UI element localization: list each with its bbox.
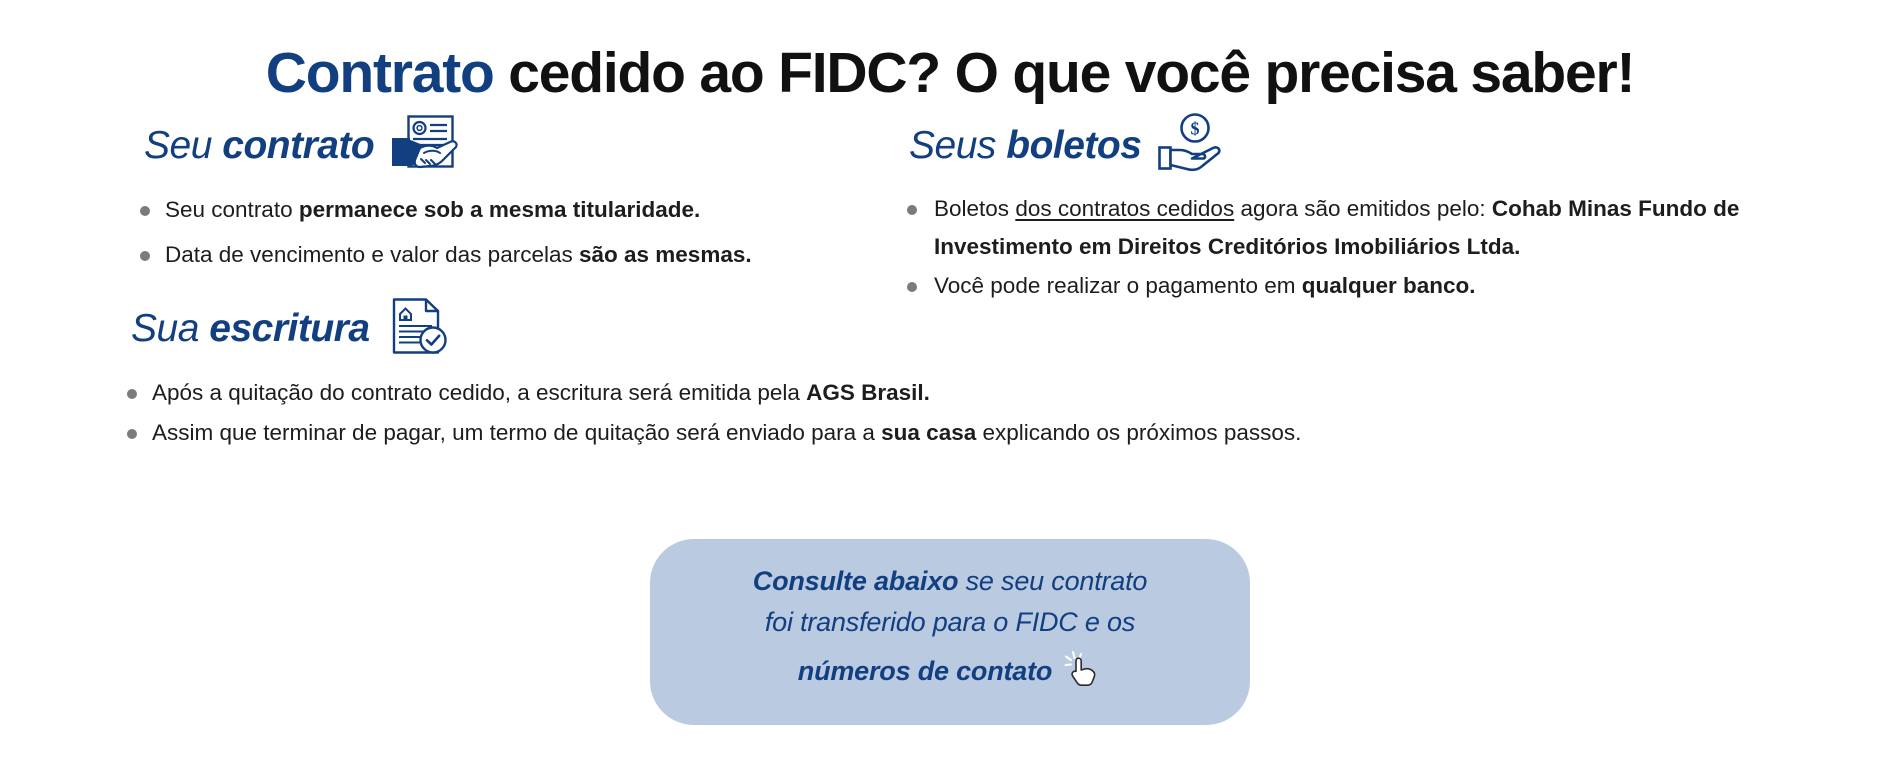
page-title-highlight: Contrato [266,41,494,105]
bullet-text-bold: AGS Brasil. [806,380,930,405]
bullet-text-underline: dos contratos cedidos [1015,196,1234,221]
bullet-text-pre: Após a quitação do contrato cedido, a es… [152,380,806,405]
list-item: Seu contrato permanece sob a mesma titul… [138,191,752,229]
bullet-text-bold: permanece sob a mesma titularidade. [299,197,700,222]
bullet-text-pre: Seu contrato [165,197,299,222]
section-escritura-heading-light: Sua [131,307,199,350]
hand-holding-money-icon: $ [1157,112,1233,179]
list-item: Após a quitação do contrato cedido, a es… [125,374,1301,412]
cta-line-1-rest: se seu contrato [958,566,1147,596]
section-escritura: Sua escritura [125,295,1301,452]
bullet-text-bold: qualquer banco. [1302,273,1476,298]
section-escritura-heading: Sua escritura [131,295,1301,362]
bullet-text-mid: agora são emitidos pelo: [1234,196,1492,221]
bullet-text-pre: Data de vencimento e valor das parcelas [165,242,579,267]
section-contrato-bullets: Seu contrato permanece sob a mesma titul… [138,191,752,274]
svg-text:$: $ [1191,119,1200,139]
infographic-page: Contrato cedido ao FIDC? O que você prec… [0,0,1900,780]
section-escritura-heading-text: Sua escritura [131,306,370,352]
section-boletos: Seus boletos $ Boletos dos contratos ced… [905,112,1835,305]
section-contrato-heading: Seu contrato [144,112,752,179]
bullet-text-pre: Boletos [934,196,1015,221]
cta-line-3: números de contato [680,643,1220,699]
cta-consulte-button[interactable]: Consulte abaixo se seu contrato foi tran… [650,539,1250,725]
document-verified-icon [386,295,448,362]
section-contrato-heading-light: Seu [144,124,212,167]
list-item: Assim que terminar de pagar, um termo de… [125,414,1301,452]
list-item: Boletos dos contratos cedidos agora são … [905,190,1835,266]
section-contrato-heading-text: Seu contrato [144,123,374,169]
section-escritura-bullets: Após a quitação do contrato cedido, a es… [125,374,1301,452]
bullet-text-pre: Assim que terminar de pagar, um termo de… [152,420,881,445]
click-cursor-hand-icon [1064,649,1102,699]
section-boletos-heading: Seus boletos $ [909,112,1835,179]
bullet-text-bold: são as mesmas. [579,242,752,267]
cta-line-1: Consulte abaixo se seu contrato [680,561,1220,602]
page-title: Contrato cedido ao FIDC? O que você prec… [0,36,1900,110]
section-boletos-bullets: Boletos dos contratos cedidos agora são … [905,190,1835,305]
cta-line-2: foi transferido para o FIDC e os [680,602,1220,643]
section-boletos-heading-text: Seus boletos [909,123,1141,169]
section-boletos-heading-light: Seus [909,124,996,167]
section-escritura-heading-bold: escritura [209,307,369,350]
list-item: Data de vencimento e valor das parcelas … [138,236,752,274]
bullet-text-post: explicando os próximos passos. [976,420,1301,445]
cta-line-3-bold: números de contato [798,651,1052,692]
section-contrato: Seu contrato [138,112,752,274]
section-boletos-heading-bold: boletos [1006,124,1141,167]
section-contrato-heading-bold: contrato [222,124,374,167]
page-title-rest: cedido ao FIDC? O que você precisa saber… [494,41,1635,105]
bullet-text-bold: sua casa [881,420,976,445]
contract-handshake-icon [390,112,464,179]
cta-line-1-bold: Consulte abaixo [753,566,959,596]
